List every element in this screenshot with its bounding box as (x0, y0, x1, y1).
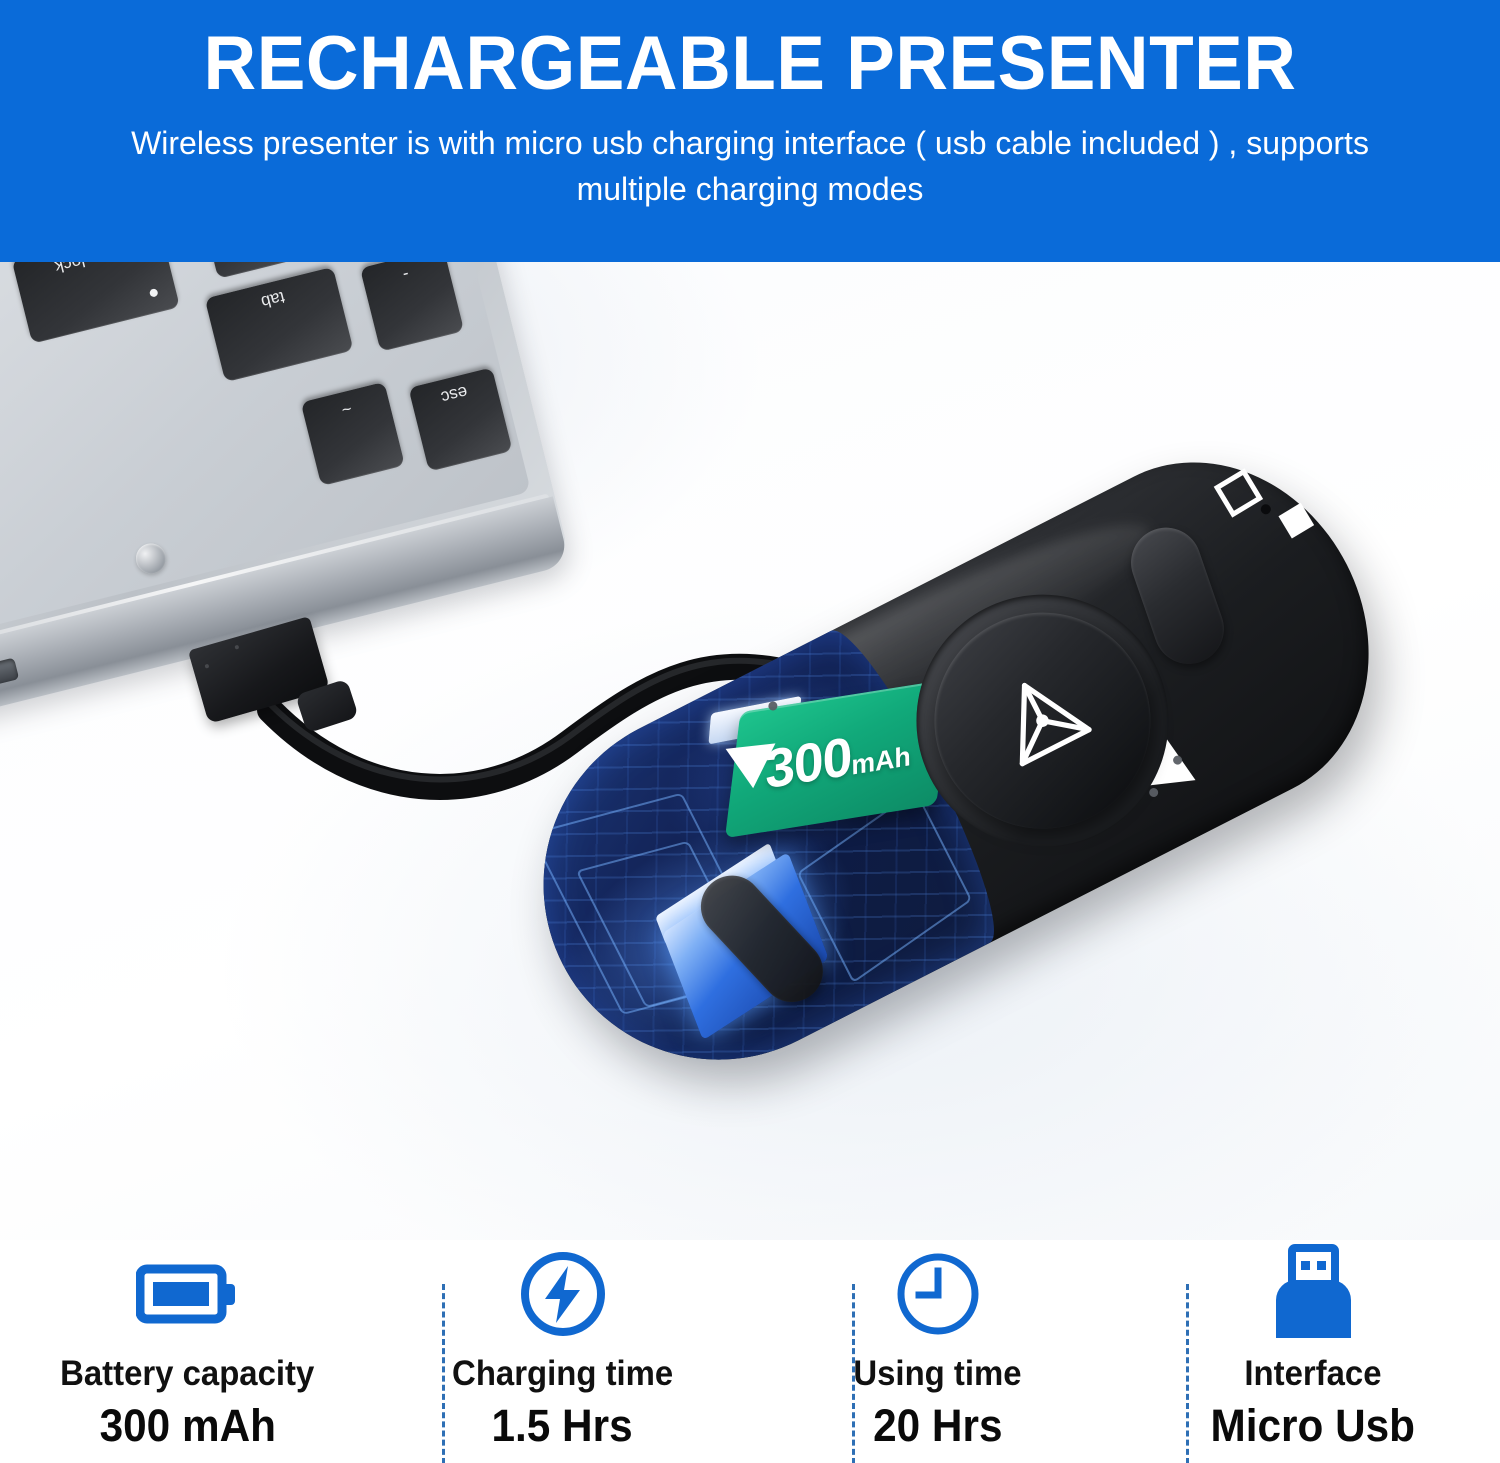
feature-charging-time: Charging time 1.5 Hrs (375, 1240, 750, 1463)
page-title: RECHARGEABLE PRESENTER (30, 22, 1470, 106)
product-infographic: RECHARGEABLE PRESENTER Wireless presente… (0, 0, 1500, 1463)
feature-value: 1.5 Hrs (492, 1400, 633, 1452)
feature-battery-capacity: Battery capacity 300 mAh (0, 1240, 375, 1463)
key-esc: esc (408, 367, 512, 471)
header-banner: RECHARGEABLE PRESENTER Wireless presente… (0, 0, 1500, 262)
feature-spec-strip: Battery capacity 300 mAh Charging time 1… (0, 1240, 1500, 1463)
feature-value: Micro Usb (1210, 1400, 1414, 1452)
page-subtitle: Wireless presenter is with micro usb cha… (0, 120, 1500, 212)
lightning-bolt-icon (518, 1249, 608, 1339)
battery-capacity-label: 300mAh (765, 716, 911, 802)
key-caps-lock: caps lock (12, 262, 180, 344)
lightning-bolt-icon-wrap (518, 1246, 608, 1342)
clock-icon (893, 1249, 983, 1339)
feature-value: 20 Hrs (873, 1400, 1002, 1452)
key-tilde: ~ (301, 382, 405, 486)
feature-using-time: Using time 20 Hrs (750, 1240, 1125, 1463)
key-circle (197, 262, 301, 279)
battery-icon-wrap (136, 1246, 240, 1342)
key-tab: tab (205, 267, 354, 382)
battery-icon (136, 1257, 240, 1331)
usb-flash-drive-icon (1270, 1244, 1356, 1344)
laser-beam-icon (973, 651, 1113, 791)
feature-label: Using time (853, 1354, 1021, 1394)
clock-icon-wrap (893, 1246, 983, 1342)
feature-label: Battery capacity (60, 1354, 314, 1394)
usb-flash-drive-icon-wrap (1270, 1246, 1356, 1342)
key-minus: - (360, 262, 464, 352)
product-photo: 2 caps lock shift - tab ~ esc (0, 262, 1500, 1240)
feature-interface: Interface Micro Usb (1125, 1240, 1500, 1463)
feature-label: Interface (1244, 1354, 1381, 1394)
feature-value: 300 mAh (99, 1400, 275, 1452)
feature-label: Charging time (452, 1354, 673, 1394)
caps-lock-led-icon (149, 288, 159, 298)
